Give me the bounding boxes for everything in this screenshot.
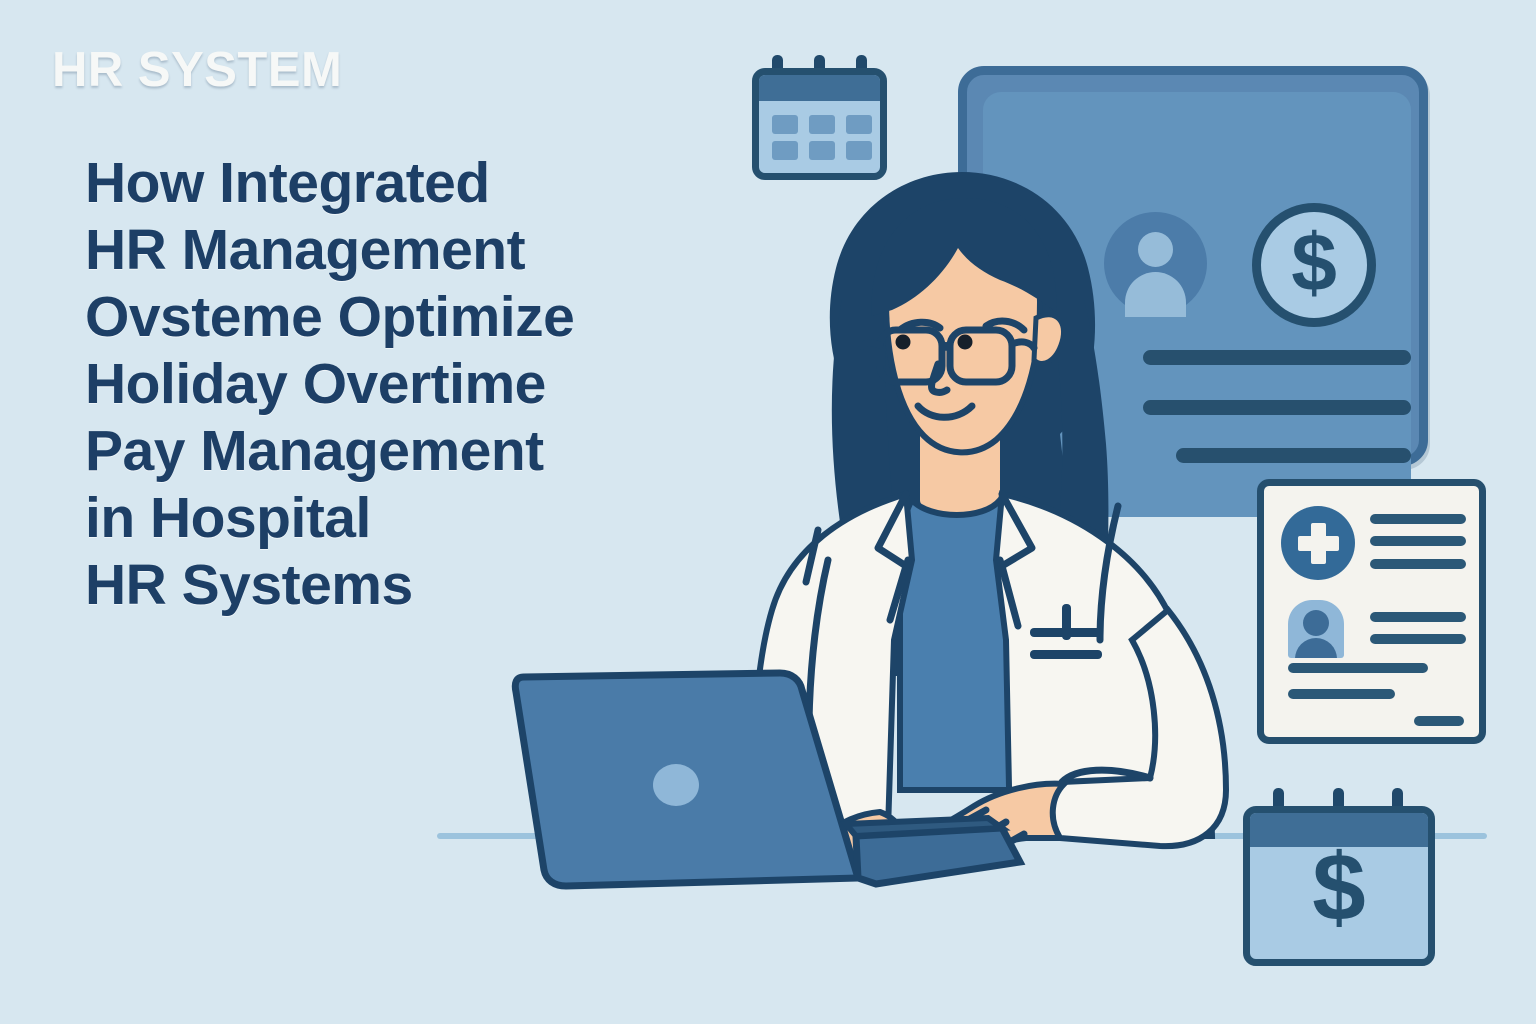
- hr-staff-illustration: [0, 0, 1536, 1024]
- eye-left: [896, 335, 911, 350]
- laptop-logo: [653, 764, 699, 806]
- shirt: [899, 500, 1010, 790]
- hero-illustration-canvas: How Integrated HR Management Ovsteme Opt…: [0, 0, 1536, 1024]
- eye-right: [958, 335, 973, 350]
